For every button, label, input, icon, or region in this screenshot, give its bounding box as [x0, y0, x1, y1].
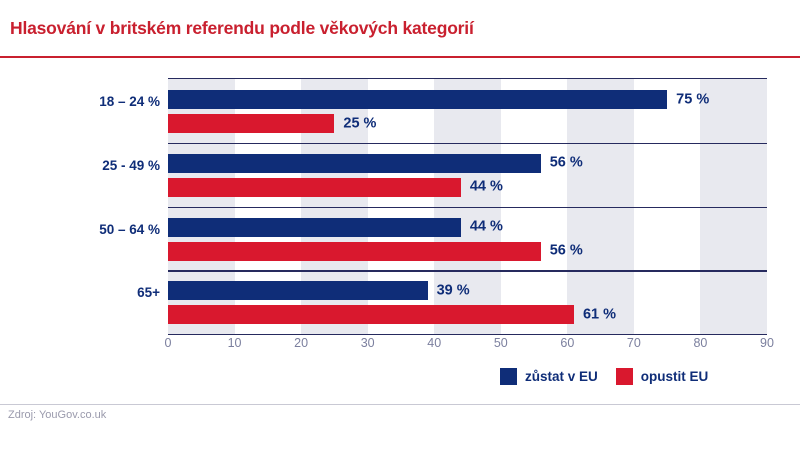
legend-label: zůstat v EU	[525, 369, 598, 384]
bar-row: 39 %	[168, 281, 767, 300]
legend-label: opustit EU	[641, 369, 709, 384]
y-axis-labels: 18 – 24 %25 - 49 %50 – 64 %65+	[0, 78, 160, 333]
bar-leave[interactable]	[168, 178, 461, 197]
plot-area: 75 %25 %56 %44 %44 %56 %39 %61 %	[168, 78, 767, 335]
x-axis-tick: 80	[693, 336, 707, 350]
bar-remain[interactable]	[168, 154, 541, 173]
legend-swatch-remain	[500, 368, 517, 385]
x-axis-tick: 90	[760, 336, 774, 350]
legend-swatch-leave	[616, 368, 633, 385]
bar-row: 56 %	[168, 242, 767, 261]
legend-item[interactable]: opustit EU	[616, 368, 709, 385]
x-axis-tick: 50	[494, 336, 508, 350]
bar-leave[interactable]	[168, 305, 574, 324]
source-note: Zdroj: YouGov.co.uk	[8, 409, 106, 421]
title-divider	[0, 56, 800, 58]
bar-leave[interactable]	[168, 242, 541, 261]
x-axis-tick: 60	[560, 336, 574, 350]
page-title: Hlasování v britském referendu podle věk…	[10, 18, 474, 39]
y-axis-label: 25 - 49 %	[0, 158, 160, 173]
bar-row: 44 %	[168, 178, 767, 197]
bar-remain[interactable]	[168, 281, 428, 300]
bar-remain[interactable]	[168, 218, 461, 237]
legend-item[interactable]: zůstat v EU	[500, 368, 598, 385]
bar-value-label: 56 %	[550, 155, 583, 171]
bar-value-label: 56 %	[550, 243, 583, 259]
x-axis-tick: 70	[627, 336, 641, 350]
bar-value-label: 39 %	[437, 282, 470, 298]
x-axis-tick: 30	[361, 336, 375, 350]
y-axis-label: 65+	[0, 285, 160, 300]
bar-group: 75 %25 %	[168, 79, 767, 143]
footer-divider	[0, 404, 800, 405]
y-axis-label: 50 – 64 %	[0, 222, 160, 237]
chart-header: Hlasování v britském referendu podle věk…	[0, 0, 800, 57]
bar-group: 44 %56 %	[168, 207, 767, 271]
bar-row: 44 %	[168, 218, 767, 237]
x-axis-tick: 10	[228, 336, 242, 350]
bar-remain[interactable]	[168, 90, 667, 109]
bar-group: 56 %44 %	[168, 143, 767, 207]
bar-value-label: 61 %	[583, 306, 616, 322]
bar-row: 56 %	[168, 154, 767, 173]
x-axis: 0102030405060708090	[168, 336, 767, 356]
bar-row: 75 %	[168, 90, 767, 109]
x-axis-tick: 20	[294, 336, 308, 350]
bar-row: 25 %	[168, 114, 767, 133]
x-axis-tick: 40	[427, 336, 441, 350]
bar-group: 39 %61 %	[168, 270, 767, 334]
bar-row: 61 %	[168, 305, 767, 324]
x-axis-tick: 0	[165, 336, 172, 350]
bar-value-label: 44 %	[470, 179, 503, 195]
chart-legend: zůstat v EUopustit EU	[500, 368, 708, 385]
y-axis-label: 18 – 24 %	[0, 94, 160, 109]
bar-value-label: 75 %	[676, 91, 709, 107]
bar-leave[interactable]	[168, 114, 334, 133]
bar-value-label: 44 %	[470, 219, 503, 235]
bar-value-label: 25 %	[343, 115, 376, 131]
